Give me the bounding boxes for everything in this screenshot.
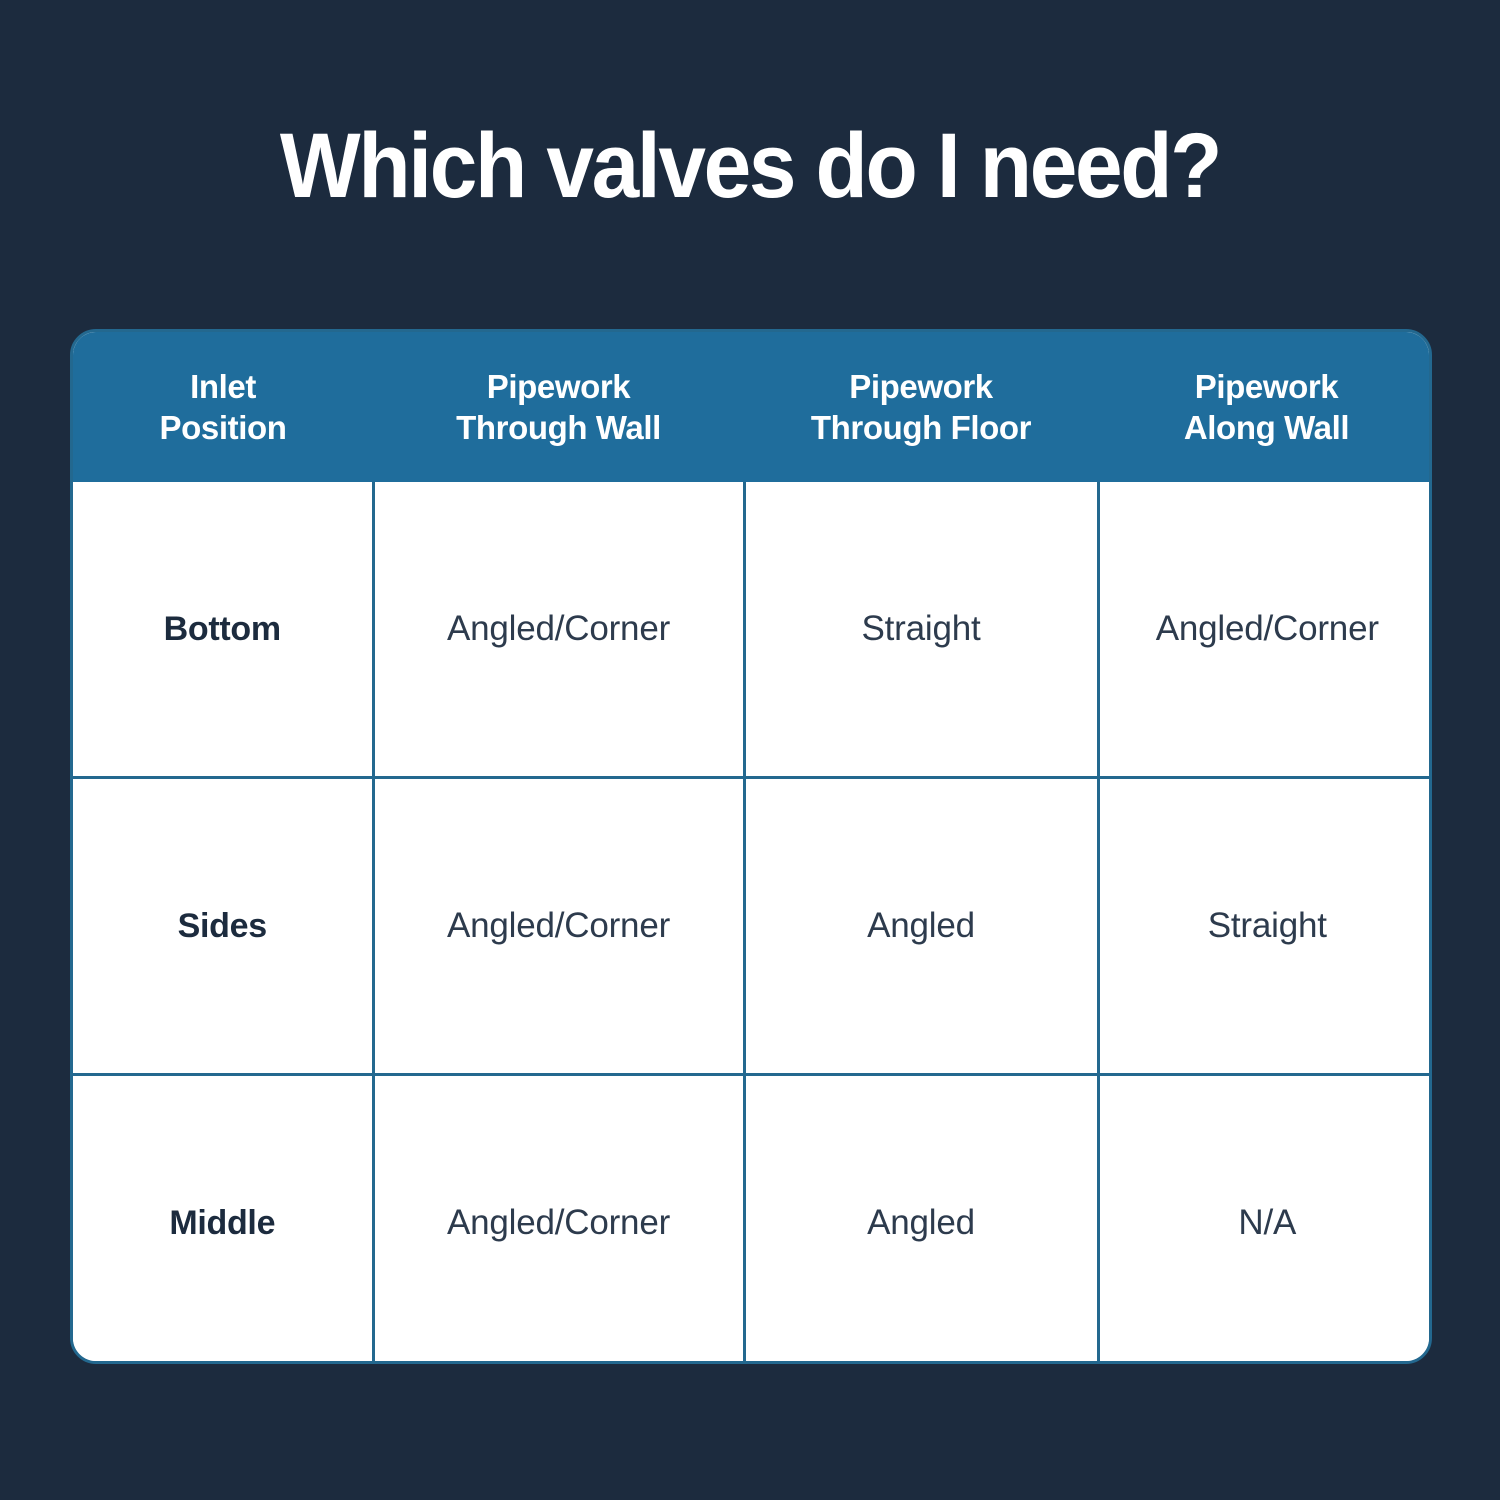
column-header-pipework-through-floor-line1: Pipework — [752, 366, 1090, 407]
column-header-pipework-through-wall-line2: Through Wall — [381, 407, 736, 448]
cell-sides-along-wall: Straight — [1098, 778, 1432, 1075]
cell-bottom-along-wall: Angled/Corner — [1098, 482, 1432, 778]
table-row: Middle Angled/Corner Angled N/A — [73, 1075, 1432, 1365]
table-row: Bottom Angled/Corner Straight Angled/Cor… — [73, 482, 1432, 778]
table-header-row: Inlet Position Pipework Through Wall Pip… — [73, 332, 1432, 482]
table-row: Sides Angled/Corner Angled Straight — [73, 778, 1432, 1075]
column-header-pipework-through-wall-line1: Pipework — [381, 366, 736, 407]
cell-middle-through-floor: Angled — [744, 1075, 1098, 1365]
column-header-inlet-position-line1: Inlet — [81, 366, 365, 407]
table-body: Bottom Angled/Corner Straight Angled/Cor… — [73, 482, 1432, 1364]
row-header-sides: Sides — [73, 778, 373, 1075]
column-header-pipework-through-wall: Pipework Through Wall — [373, 332, 744, 482]
cell-middle-through-wall: Angled/Corner — [373, 1075, 744, 1365]
cell-sides-through-floor: Angled — [744, 778, 1098, 1075]
column-header-pipework-along-wall-line1: Pipework — [1106, 366, 1427, 407]
column-header-pipework-along-wall-line2: Along Wall — [1106, 407, 1427, 448]
valve-selection-card: Inlet Position Pipework Through Wall Pip… — [70, 329, 1432, 1364]
table-header: Inlet Position Pipework Through Wall Pip… — [73, 332, 1432, 482]
column-header-pipework-through-floor-line2: Through Floor — [752, 407, 1090, 448]
column-header-inlet-position-line2: Position — [81, 407, 365, 448]
column-header-pipework-along-wall: Pipework Along Wall — [1098, 332, 1432, 482]
cell-sides-through-wall: Angled/Corner — [373, 778, 744, 1075]
column-header-pipework-through-floor: Pipework Through Floor — [744, 332, 1098, 482]
column-header-inlet-position: Inlet Position — [73, 332, 373, 482]
page-title: Which valves do I need? — [53, 118, 1448, 215]
row-header-bottom: Bottom — [73, 482, 373, 778]
row-header-middle: Middle — [73, 1075, 373, 1365]
cell-bottom-through-wall: Angled/Corner — [373, 482, 744, 778]
cell-middle-along-wall: N/A — [1098, 1075, 1432, 1365]
valve-selection-table: Inlet Position Pipework Through Wall Pip… — [73, 332, 1432, 1364]
cell-bottom-through-floor: Straight — [744, 482, 1098, 778]
page-root: Which valves do I need? Inlet Position P… — [0, 0, 1500, 1500]
